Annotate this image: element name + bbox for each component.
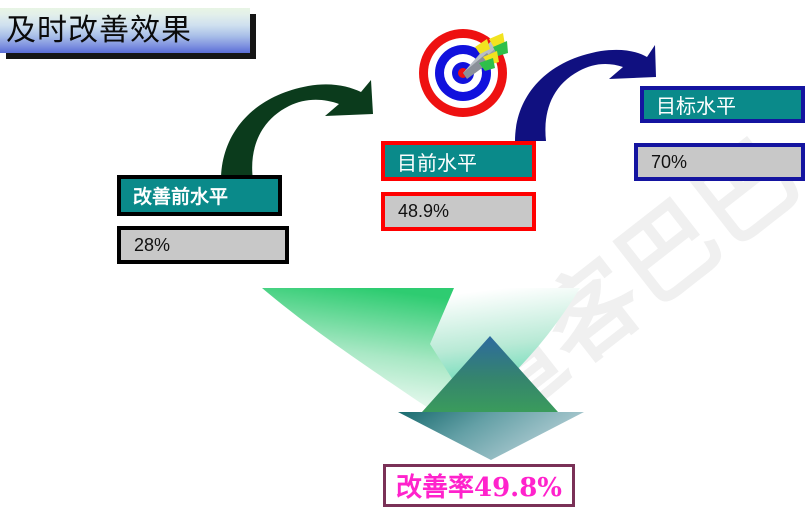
- metric-value-target: 70%: [634, 143, 805, 181]
- metric-label-current: 目前水平: [381, 141, 536, 181]
- curved-arrow-green-icon: [213, 42, 388, 182]
- title-text: 及时改善效果: [6, 9, 192, 53]
- curved-arrow-blue-icon: [513, 33, 658, 145]
- dartboard-icon: [417, 27, 509, 119]
- metric-value-current: 48.9%: [381, 192, 536, 231]
- metric-value-before: 28%: [117, 226, 289, 264]
- improvement-rate-callout: 改善率49.8%: [383, 464, 575, 507]
- funnel-shape: [258, 284, 588, 464]
- metric-label-before: 改善前水平: [117, 175, 282, 216]
- improvement-rate-text: 改善率49.8%: [396, 467, 562, 504]
- metric-label-target: 目标水平: [640, 86, 805, 123]
- slide-canvas: 道客巴巴 及时改善效果: [0, 0, 812, 517]
